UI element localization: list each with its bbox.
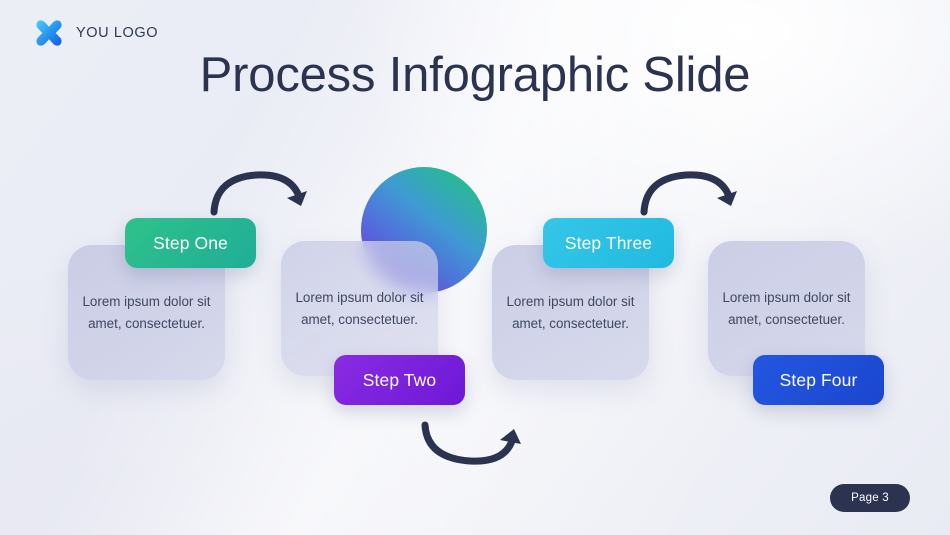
page-indicator[interactable]: Page 3: [830, 484, 910, 512]
step-card-3-body: Lorem ipsum dolor sit amet, consectetuer…: [505, 291, 637, 335]
logo-text: YOU LOGO: [76, 25, 158, 41]
logo-lockup[interactable]: YOU LOGO: [34, 18, 158, 48]
arrow-step-one-to-two-icon: [208, 166, 312, 221]
step-card-2-body: Lorem ipsum dolor sit amet, consectetuer…: [294, 287, 426, 331]
step-badge-two[interactable]: Step Two: [334, 355, 465, 405]
step-badge-three[interactable]: Step Three: [543, 218, 674, 268]
page-title: Process Infographic Slide: [0, 47, 950, 103]
x-cross-icon: [34, 18, 64, 48]
step-card-4-body: Lorem ipsum dolor sit amet, consectetuer…: [721, 287, 853, 331]
arrow-step-two-to-three-icon: [418, 420, 526, 473]
step-badge-one[interactable]: Step One: [125, 218, 256, 268]
arrow-step-three-to-four-icon: [638, 166, 742, 221]
slide-canvas: YOU LOGO Process Infographic Slide Lorem…: [0, 0, 950, 535]
step-badge-four[interactable]: Step Four: [753, 355, 884, 405]
step-card-1-body: Lorem ipsum dolor sit amet, consectetuer…: [81, 291, 213, 335]
